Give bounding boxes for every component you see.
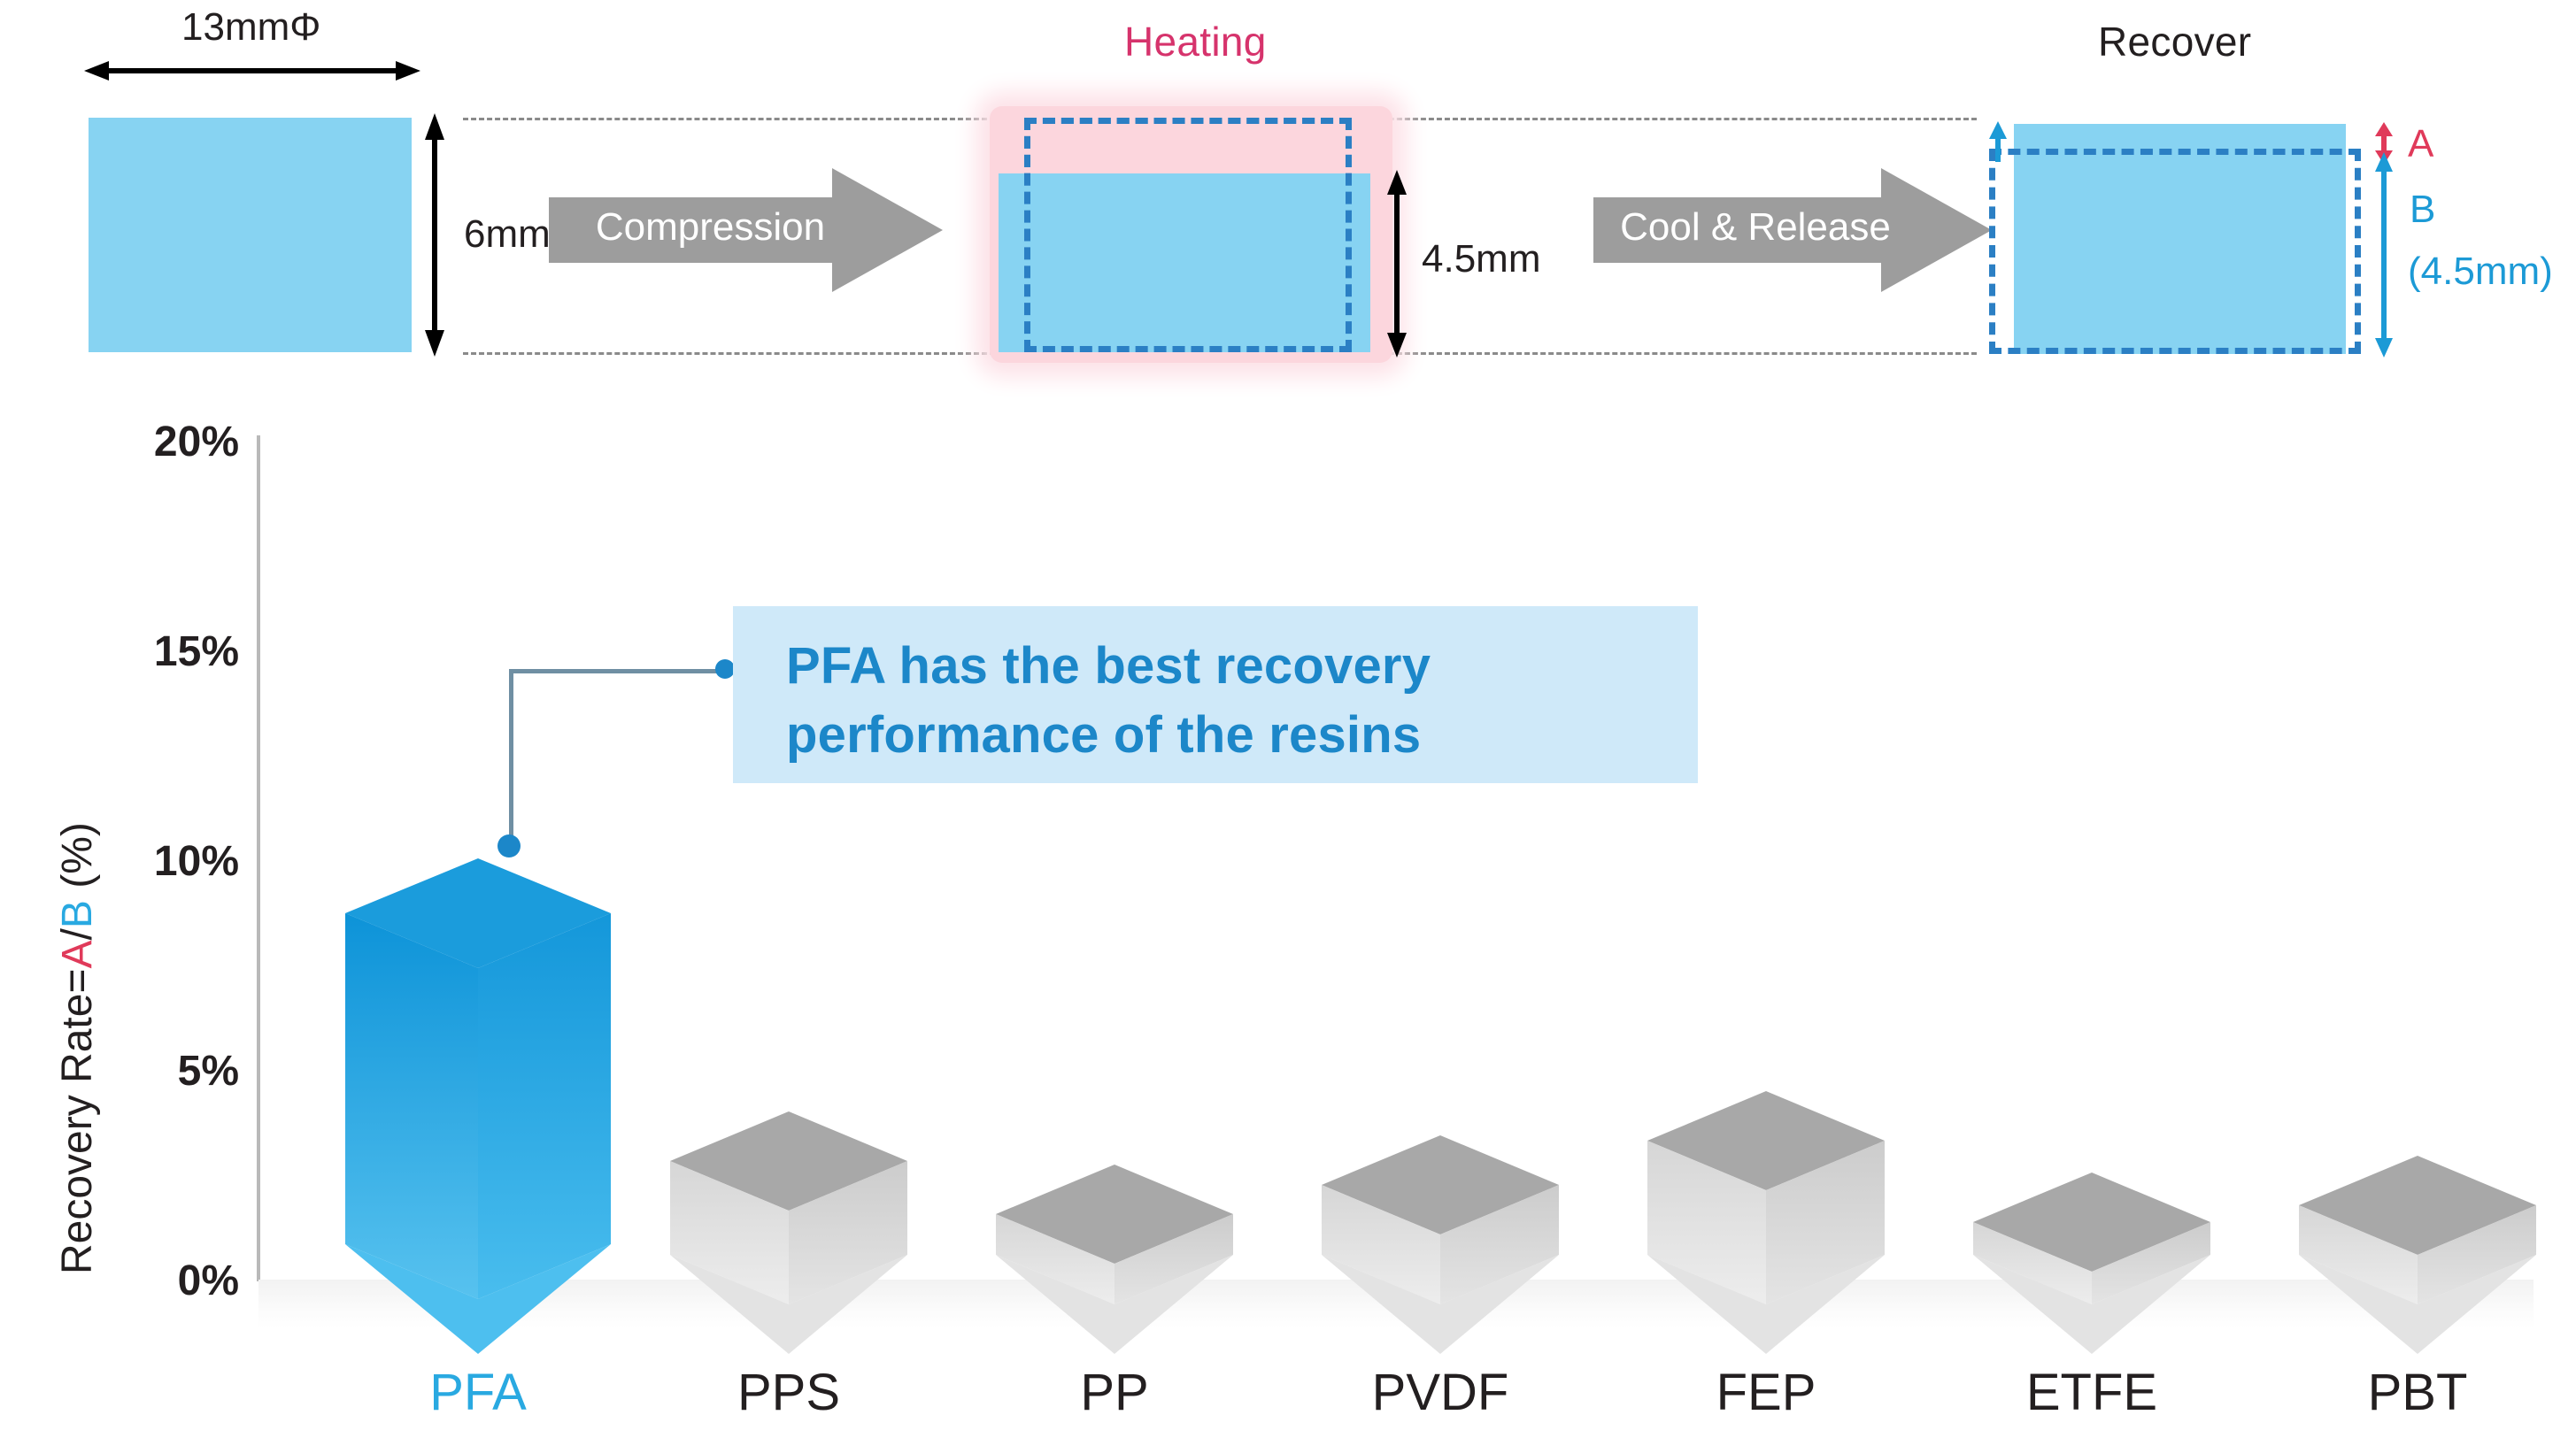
x-tick-pp: PP bbox=[999, 1363, 1230, 1422]
bar-etfe[interactable] bbox=[1973, 1173, 2210, 1354]
recover-b-label: B bbox=[2410, 188, 2435, 232]
y-axis-label-suffix: (%) bbox=[54, 822, 101, 900]
heating-title: Heating bbox=[1124, 18, 1267, 65]
bar-fep[interactable] bbox=[1647, 1091, 1885, 1354]
bar-pps[interactable] bbox=[670, 1111, 907, 1354]
y-axis-label-a: A bbox=[54, 940, 101, 968]
recover-title: Recover bbox=[2098, 18, 2251, 65]
y-axis-line bbox=[257, 435, 260, 1281]
springback-arrow bbox=[1987, 121, 2009, 162]
y-axis-label: Recovery Rate=A/B (%) bbox=[53, 822, 102, 1274]
bar-pfa[interactable] bbox=[345, 858, 611, 1354]
callout-leader-vertical bbox=[509, 669, 513, 846]
y-axis-label-slash: / bbox=[54, 928, 101, 940]
compression-arrow-label: Compression bbox=[513, 205, 907, 250]
compression-arrow: Compression bbox=[549, 168, 943, 292]
callout-leader-dot-bar bbox=[497, 834, 521, 857]
recovered-reference-outline bbox=[1989, 149, 2361, 354]
process-diagram: 13mmΦ 6mm Compression Heating 4.5mm bbox=[0, 0, 2576, 381]
recover-b-arrow bbox=[2372, 152, 2395, 358]
width-dimension-arrow bbox=[84, 60, 420, 81]
x-tick-pbt: PBT bbox=[2302, 1363, 2534, 1422]
callout-text-line2: performance of the resins bbox=[786, 701, 1698, 770]
y-axis-label-b: B bbox=[54, 900, 101, 928]
y-axis-label-prefix: Recovery Rate= bbox=[54, 969, 101, 1275]
y-tick-15: 15% bbox=[115, 627, 239, 676]
x-tick-pps: PPS bbox=[673, 1363, 905, 1422]
x-tick-pfa: PFA bbox=[354, 1363, 602, 1422]
compressed-height-dimension-arrow bbox=[1385, 170, 1408, 358]
bar-pbt[interactable] bbox=[2299, 1156, 2536, 1354]
cool-release-arrow: Cool & Release bbox=[1593, 168, 1992, 292]
compressed-height-label: 4.5mm bbox=[1422, 237, 1540, 281]
callout-text-line1: PFA has the best recovery bbox=[786, 632, 1698, 701]
x-tick-etfe: ETFE bbox=[1976, 1363, 2208, 1422]
y-tick-0: 0% bbox=[115, 1257, 239, 1305]
y-tick-20: 20% bbox=[115, 418, 239, 466]
x-tick-fep: FEP bbox=[1650, 1363, 1882, 1422]
width-dimension-label: 13mmΦ bbox=[181, 5, 320, 50]
recover-b-sublabel: (4.5mm) bbox=[2408, 250, 2553, 294]
callout-text: PFA has the best recovery performance of… bbox=[786, 632, 1698, 769]
y-tick-10: 10% bbox=[115, 837, 239, 886]
recover-a-label: A bbox=[2408, 122, 2433, 166]
callout-leader-dot-box bbox=[715, 659, 735, 679]
callout-leader-horizontal bbox=[509, 669, 726, 673]
bar-pvdf[interactable] bbox=[1322, 1135, 1559, 1354]
y-tick-5: 5% bbox=[115, 1047, 239, 1096]
cool-release-arrow-label: Cool & Release bbox=[1556, 205, 1955, 250]
original-sample-block bbox=[89, 118, 412, 352]
heating-original-outline-overlay bbox=[1024, 118, 1352, 352]
bar-pp[interactable] bbox=[996, 1165, 1233, 1354]
original-height-dimension-arrow bbox=[423, 113, 446, 357]
x-tick-pvdf: PVDF bbox=[1324, 1363, 1556, 1422]
recovery-rate-bar-chart: Recovery Rate=A/B (%) 20% 15% 10% 5% 0% bbox=[0, 381, 2576, 1438]
